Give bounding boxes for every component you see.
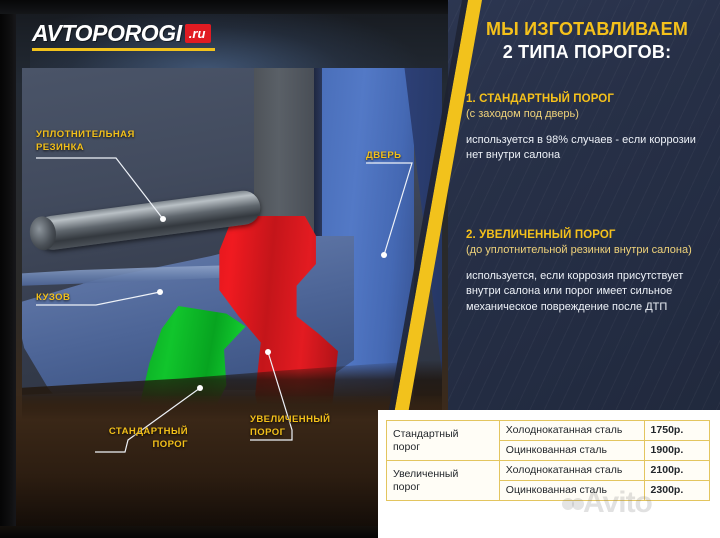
block-standard-body: используется в 98% случаев - если корроз… — [466, 133, 704, 164]
cell-price: 2100р. — [644, 461, 709, 481]
cell-material: Оцинкованная сталь — [499, 441, 644, 461]
block-enlarged-subtitle: (до уплотнительной резинки внутри салона… — [466, 243, 704, 258]
block-enlarged-title: 2. УВЕЛИЧЕННЫЙ ПОРОГ — [466, 228, 704, 243]
label-seal: УПЛОТНИТЕЛЬНАЯ РЕЗИНКА — [36, 129, 135, 154]
label-enlarged-line1: УВЕЛИЧЕННЫЙ — [250, 414, 330, 425]
label-door-text: ДВЕРЬ — [366, 150, 401, 161]
cell-price: 1900р. — [644, 441, 709, 461]
cell-material: Холоднокатанная сталь — [499, 421, 644, 441]
brand-underline — [32, 48, 215, 51]
block-standard: 1. СТАНДАРТНЫЙ ПОРОГ (с заходом под двер… — [466, 92, 704, 164]
brand-logo: AVTOPOROGI.ru — [32, 20, 215, 51]
block-enlarged: 2. УВЕЛИЧЕННЫЙ ПОРОГ (до уплотнительной … — [466, 228, 704, 315]
block-enlarged-body: используется, если коррозия присутствует… — [466, 269, 704, 316]
cell-material: Оцинкованная сталь — [499, 481, 644, 501]
price-table-container: Стандартный порог Холоднокатанная сталь … — [378, 410, 720, 538]
block-standard-subtitle: (с заходом под дверь) — [466, 107, 704, 122]
cell-material: Холоднокатанная сталь — [499, 461, 644, 481]
kind-enlarged-line2: порог — [393, 481, 420, 493]
label-seal-line2: РЕЗИНКА — [36, 142, 84, 153]
cell-kind-enlarged: Увеличенный порог — [387, 461, 500, 501]
table-row: Стандартный порог Холоднокатанная сталь … — [387, 421, 710, 441]
price-table: Стандартный порог Холоднокатанная сталь … — [386, 420, 710, 501]
brand-name: AVTOPOROGI — [32, 20, 182, 47]
kind-enlarged-line1: Увеличенный — [393, 468, 458, 480]
brand-tld-badge: .ru — [185, 24, 212, 43]
kind-standard-line1: Стандартный — [393, 428, 459, 440]
label-standard-sill: СТАНДАРТНЫЙ ПОРОГ — [88, 426, 188, 451]
label-door: ДВЕРЬ — [366, 150, 401, 163]
block-standard-title: 1. СТАНДАРТНЫЙ ПОРОГ — [466, 92, 704, 107]
kind-standard-line2: порог — [393, 441, 420, 453]
label-enlarged-line2: ПОРОГ — [250, 427, 285, 438]
table-row: Увеличенный порог Холоднокатанная сталь … — [387, 461, 710, 481]
label-body-text: КУЗОВ — [36, 292, 70, 303]
cell-price: 1750р. — [644, 421, 709, 441]
label-body: КУЗОВ — [36, 292, 70, 305]
cell-price: 2300р. — [644, 481, 709, 501]
promo-banner: УПЛОТНИТЕЛЬНАЯ РЕЗИНКА КУЗОВ ДВЕРЬ СТАНД… — [0, 0, 720, 538]
cell-kind-standard: Стандартный порог — [387, 421, 500, 461]
label-seal-line1: УПЛОТНИТЕЛЬНАЯ — [36, 129, 135, 140]
headline-line1: МЫ ИЗГОТАВЛИВАЕМ — [486, 19, 688, 39]
label-enlarged-sill: УВЕЛИЧЕННЫЙ ПОРОГ — [250, 414, 330, 439]
headline-line2: 2 ТИПА ПОРОГОВ: — [503, 42, 672, 62]
label-standard-line2: ПОРОГ — [153, 439, 188, 450]
frame-left-edge — [0, 0, 16, 538]
label-standard-line1: СТАНДАРТНЫЙ — [109, 426, 188, 437]
frame-top-edge — [0, 0, 448, 14]
headline: МЫ ИЗГОТАВЛИВАЕМ 2 ТИПА ПОРОГОВ: — [462, 18, 712, 64]
